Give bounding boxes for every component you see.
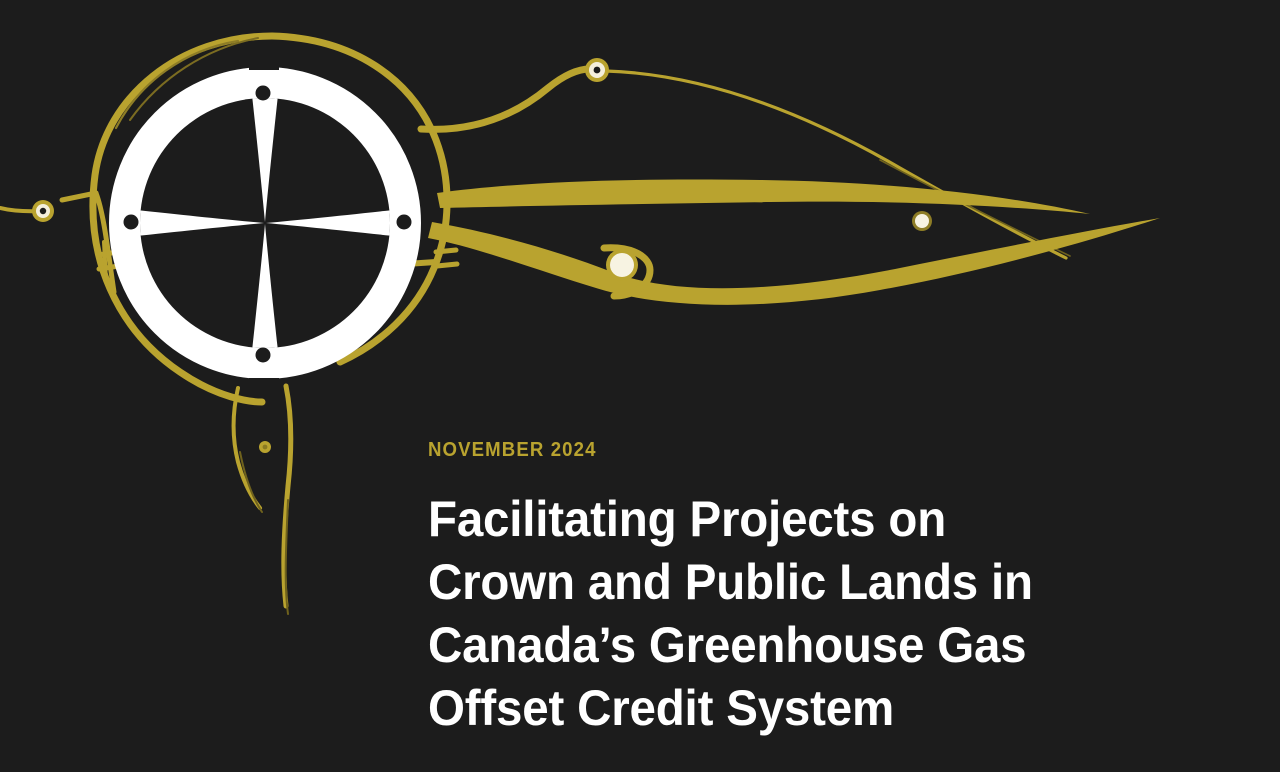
gold-tendril-upper-tail xyxy=(606,71,1066,258)
compass-rose xyxy=(124,62,412,386)
page-title: Facilitating Projects on Crown and Publi… xyxy=(428,488,1093,740)
gold-stem-left xyxy=(234,388,261,508)
node-left-ring-core xyxy=(40,208,46,214)
dot-north-icon xyxy=(256,86,271,101)
compass-spokes xyxy=(137,95,393,351)
gold-tendril-lower-left xyxy=(246,262,436,318)
dot-west-icon xyxy=(124,215,139,230)
node-left-ring-icon xyxy=(32,200,54,222)
ring-notch-bottom xyxy=(249,378,279,386)
compass-spoke-north xyxy=(252,95,278,222)
dot-east-icon xyxy=(397,215,412,230)
node-left-ring-inner xyxy=(36,204,50,218)
ring-notch-top xyxy=(249,62,279,70)
node-top-ring-core xyxy=(594,67,601,74)
node-tail-small-core xyxy=(263,445,268,450)
gold-tendril-upper xyxy=(421,69,590,129)
node-tail-small-icon xyxy=(259,441,271,453)
compass-spoke-west xyxy=(137,210,264,236)
network-nodes xyxy=(32,58,932,453)
gold-outer-ring-arc xyxy=(93,36,272,402)
gold-left-spur-lower xyxy=(96,193,114,292)
node-top-ring-icon xyxy=(585,58,609,82)
gold-tendril-lower-leaf xyxy=(428,218,1160,305)
gold-tendril-node-loop xyxy=(604,248,650,296)
gold-wisp-upper-left xyxy=(116,41,238,128)
node-top-ring-inner xyxy=(589,62,605,78)
gold-stem-right-fade xyxy=(286,500,288,614)
compass-spoke-south xyxy=(252,224,278,351)
gold-left-tail xyxy=(0,208,43,211)
gold-left-spur xyxy=(62,193,96,200)
compass-outer-ring xyxy=(125,83,405,363)
gold-tendril-upper-tail-fade xyxy=(880,160,1070,256)
gold-halo-wisp xyxy=(130,38,258,120)
gold-right-rung-top xyxy=(436,250,456,252)
node-right-solid-icon xyxy=(915,214,929,228)
gold-stem-right xyxy=(284,386,291,606)
gold-ladder-rung-top xyxy=(98,252,118,255)
title-line-1: Facilitating Projects on xyxy=(428,488,1093,551)
title-line-4: Offset Credit System xyxy=(428,677,1093,740)
issue-date: NOVEMBER 2024 xyxy=(428,440,1079,460)
node-center-halo xyxy=(606,249,638,281)
gold-ladder-rung-bottom xyxy=(99,266,119,269)
gold-right-rung-bottom xyxy=(437,264,457,266)
gold-tendril-mid-leaf xyxy=(437,180,1090,214)
compass-spoke-east xyxy=(266,210,393,236)
title-line-3: Canada’s Greenhouse Gas xyxy=(428,614,1093,677)
gold-ladder-rail xyxy=(104,242,106,280)
report-cover-page: NOVEMBER 2024 Facilitating Projects on C… xyxy=(0,0,1280,772)
node-right-halo xyxy=(912,211,932,231)
node-center-solid-icon xyxy=(610,253,634,277)
compass-inner-disc xyxy=(140,98,390,348)
gold-outer-ring-arc-right xyxy=(272,36,447,362)
cover-text-block: NOVEMBER 2024 Facilitating Projects on C… xyxy=(428,440,1128,740)
gold-stem-left-fade xyxy=(240,452,262,512)
title-line-2: Crown and Public Lands in xyxy=(428,551,1093,614)
dot-south-icon xyxy=(256,348,271,363)
